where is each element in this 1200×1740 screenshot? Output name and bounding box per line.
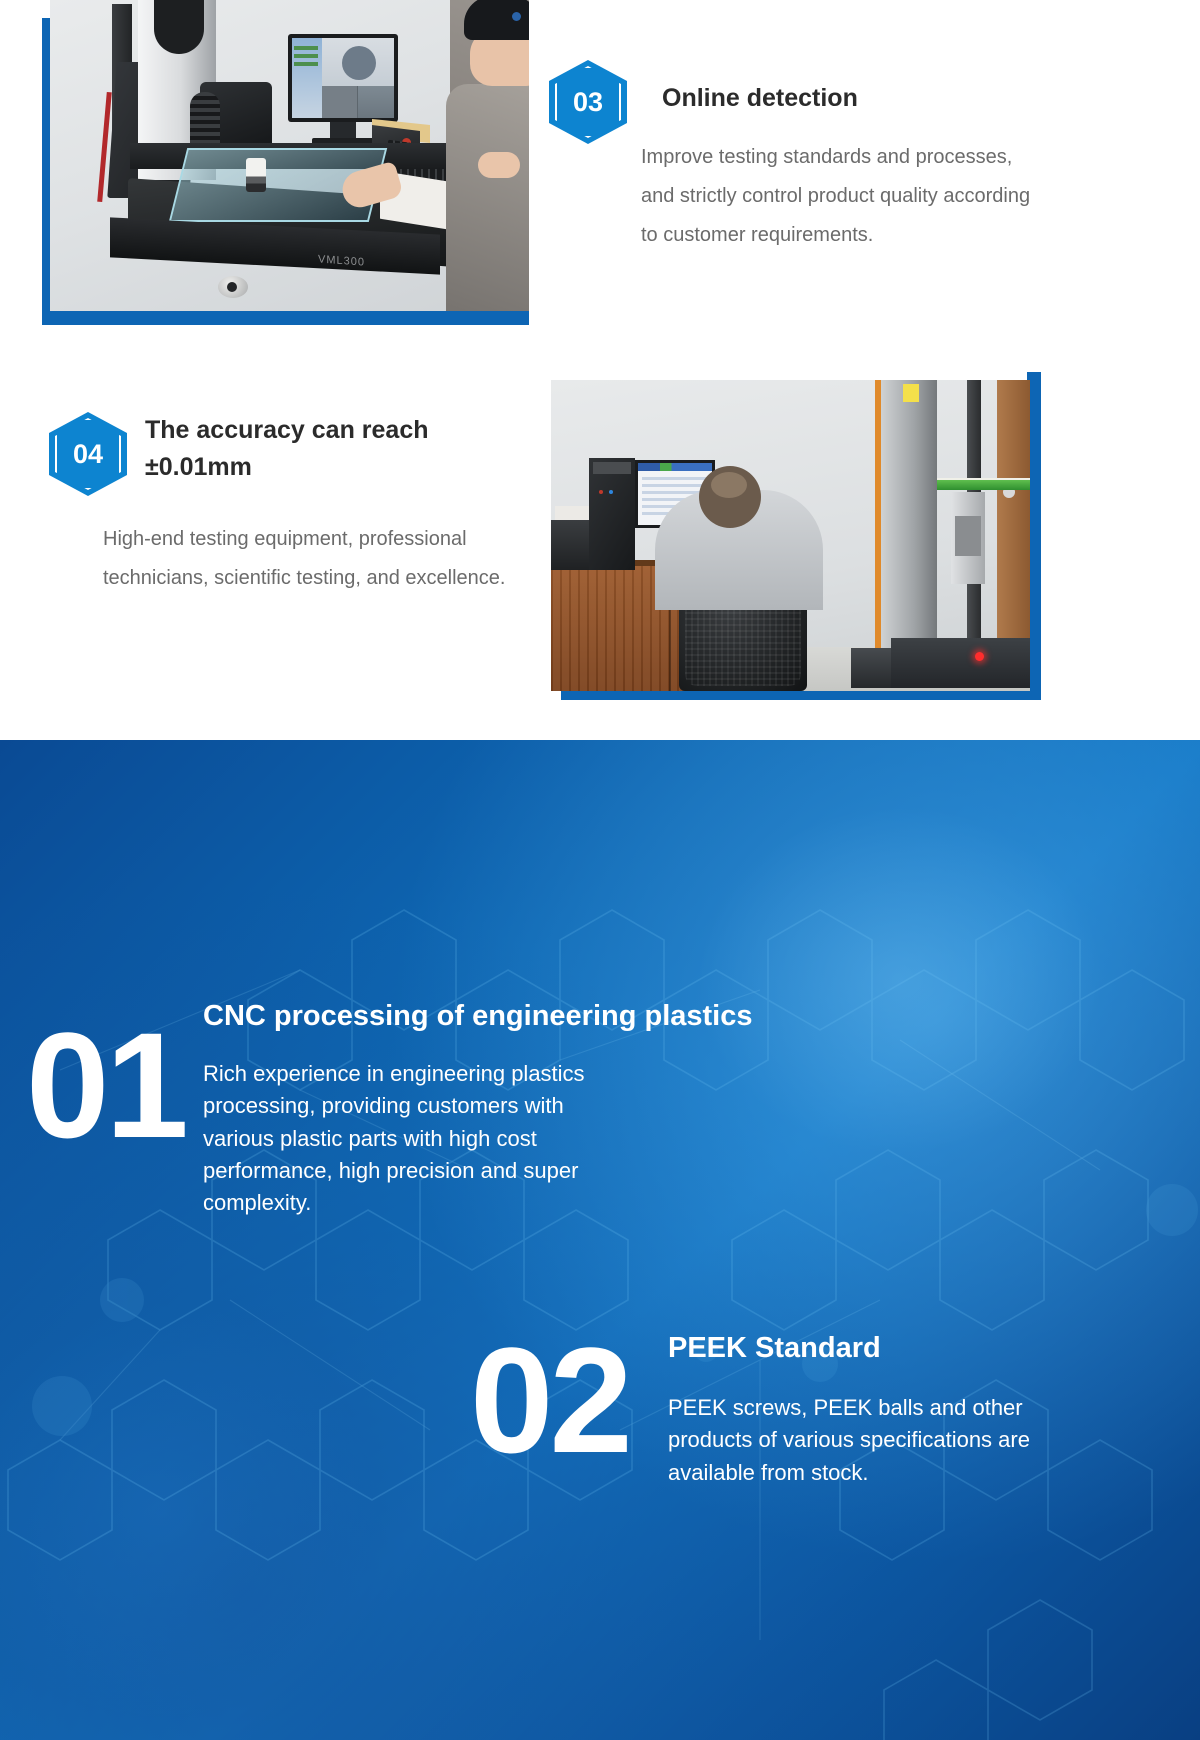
photo-accent-bottom-bar: [42, 311, 529, 325]
feature-body-03: Improve testing standards and processes,…: [641, 138, 1031, 255]
background-glow: [690, 800, 1110, 1160]
service-number-02: 02: [470, 1325, 629, 1475]
feature-number-03: 03: [549, 60, 627, 144]
service-body-02: PEEK screws, PEEK balls and other produc…: [668, 1392, 1088, 1489]
feature-badge-04: 04: [49, 412, 127, 496]
service-title-02: PEEK Standard: [668, 1332, 1098, 1365]
service-body-01: Rich experience in engineering plastics …: [203, 1058, 633, 1220]
background-glow: [0, 1300, 380, 1720]
feature-body-04: High-end testing equipment, professional…: [103, 520, 533, 598]
feature-title-03: Online detection: [662, 80, 1082, 117]
online-detection-photo-frame: VML300: [42, 0, 529, 325]
features-section: VML300 03 Online detection Improve testi…: [0, 0, 1200, 740]
feature-badge-03: 03: [549, 60, 627, 144]
accuracy-photo-frame: [551, 372, 1041, 700]
service-title-01: CNC processing of engineering plastics: [203, 1000, 963, 1033]
accuracy-photo: [551, 380, 1030, 691]
scope-of-services-section: 01 CNC processing of engineering plastic…: [0, 740, 1200, 1740]
service-number-01: 01: [26, 1010, 185, 1160]
online-detection-photo: VML300: [50, 0, 529, 311]
feature-number-04: 04: [49, 412, 127, 496]
feature-title-04: The accuracy can reach ±0.01mm: [145, 412, 505, 486]
